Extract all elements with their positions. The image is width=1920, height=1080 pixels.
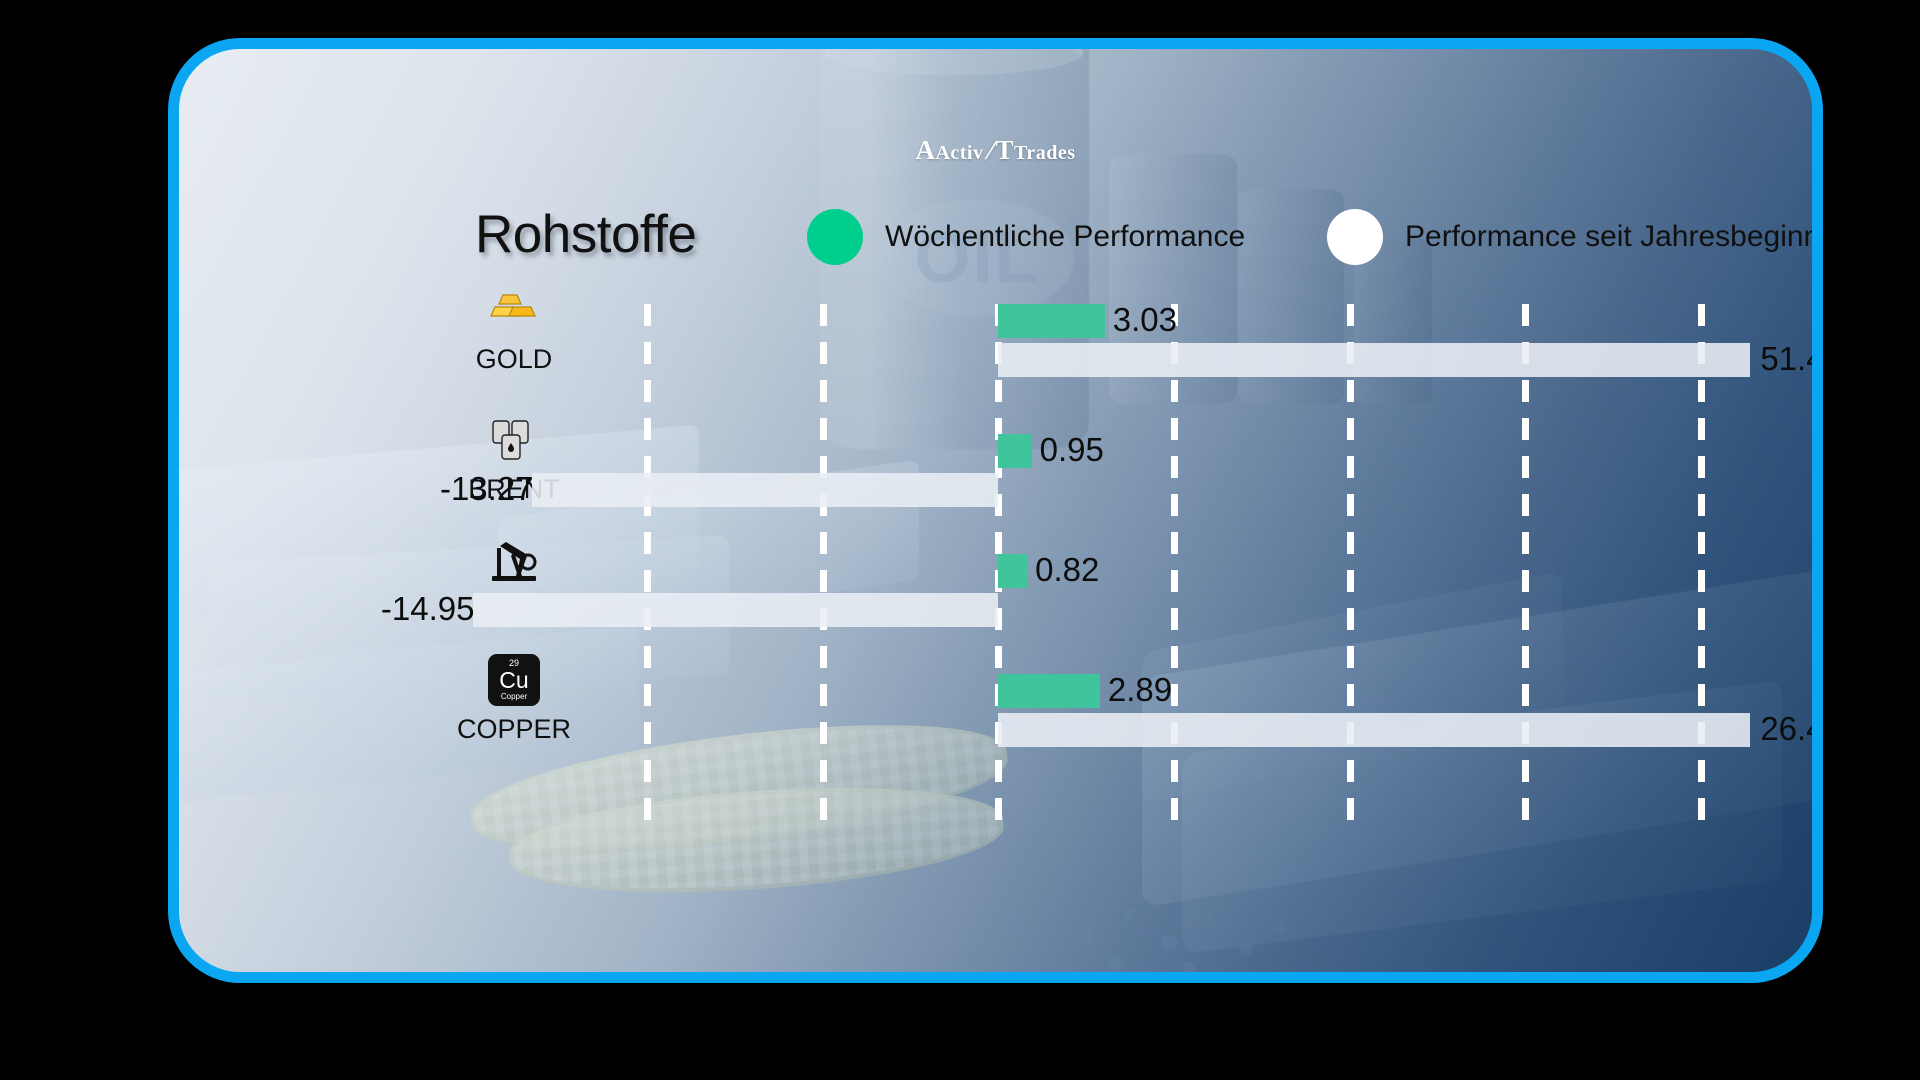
legend-marker-weekly-icon [807,209,863,265]
bar-value-weekly-3: 2.89 [1108,673,1172,707]
legend-marker-ytd-icon [1327,209,1383,265]
bar-value-weekly-2: 0.82 [1035,553,1099,587]
gridline--10 [644,304,651,834]
legend-label-ytd: Performance seit Jahresbeginn [1405,220,1820,254]
oil-pump-icon [483,532,545,588]
activtrades-logo: AActiv/TTrades [179,135,1812,166]
bar-ytd-0 [998,343,1750,377]
logo-text-activ: AActiv [915,135,983,165]
chart-plot-area: GOLD3.0351.41BRENT0.95-13.270.82-14.9529… [559,264,1789,834]
gridline-20 [1698,304,1705,834]
oil-barrels-icon [483,412,545,468]
gold-bars-icon [483,282,545,338]
chart-card: OIL AActiv/TTrades Rohstoffe Wöchentlich… [168,38,1823,983]
gridline-15 [1522,304,1529,834]
grain-pellets-graphic [984,894,1304,983]
bar-weekly-1 [998,434,1031,468]
legend-item-weekly: Wöchentliche Performance [807,209,1245,265]
bar-value-ytd-0: 51.41 [1760,342,1823,376]
bar-value-weekly-0: 3.03 [1113,303,1177,337]
bar-value-ytd-3: 26.45 [1760,712,1823,746]
gridline-5 [1171,304,1178,834]
category-label-copper: COPPER [399,714,629,745]
bar-ytd-1 [532,473,998,507]
category-label-gold: GOLD [399,344,629,375]
bar-value-ytd-1: -13.27 [440,472,534,506]
bar-weekly-0 [998,304,1104,338]
legend-label-weekly: Wöchentliche Performance [885,220,1245,254]
gridline--5 [820,304,827,834]
gridline-10 [1347,304,1354,834]
logo-text-trades: TTrades [996,135,1076,165]
page-title: Rohstoffe [475,204,696,265]
bar-value-weekly-1: 0.95 [1040,433,1104,467]
bar-ytd-2 [473,593,998,627]
logo-text-activ-caps: Activ [935,142,983,164]
copper-element-icon: 29CuCopper [483,652,545,708]
legend-item-ytd: Performance seit Jahresbeginn [1327,209,1820,265]
bar-weekly-2 [998,554,1027,588]
bar-weekly-3 [998,674,1100,708]
bar-value-ytd-2: -14.95 [381,592,475,626]
bar-ytd-3 [998,713,1750,747]
logo-text-trades-caps: Trades [1014,142,1076,164]
